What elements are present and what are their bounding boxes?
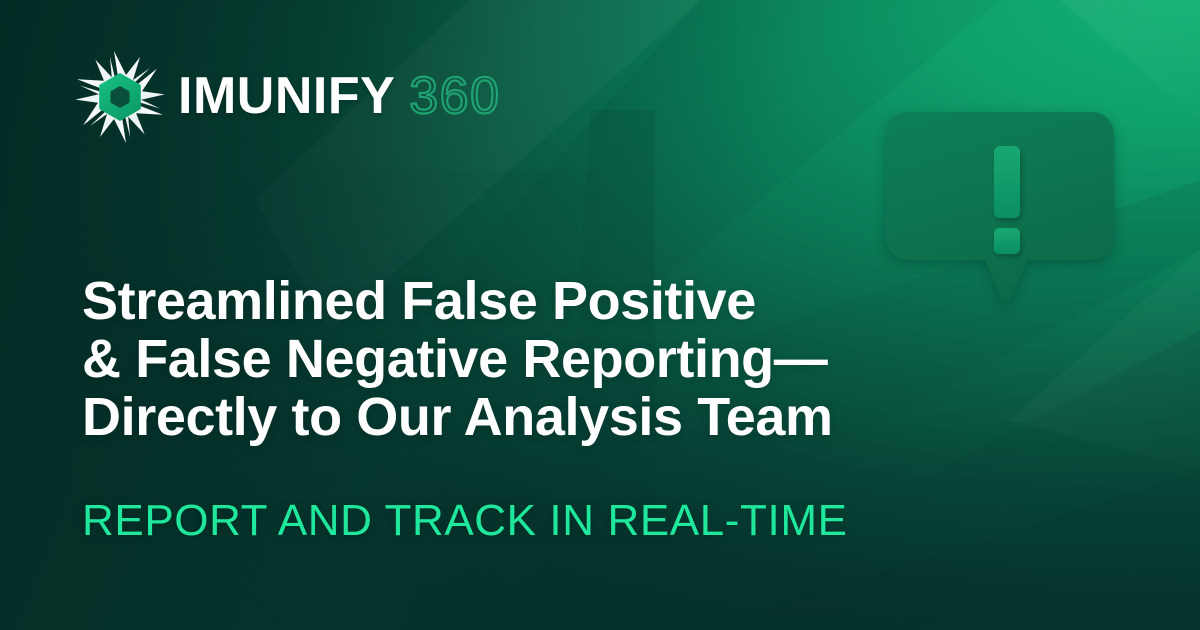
- imunify-starburst-shield-icon: [68, 45, 172, 149]
- headline-line-1: Streamlined False Positive: [82, 272, 982, 330]
- headline-line-2: & False Negative Reporting—: [82, 330, 982, 388]
- brand-wordmark: IMUNIFY 360: [178, 70, 501, 122]
- subheadline: REPORT AND TRACK IN REAL-TIME: [82, 496, 848, 546]
- brand-logo[interactable]: IMUNIFY 360: [72, 56, 501, 136]
- wordmark-360: 360: [409, 70, 500, 122]
- headline-line-3: Directly to Our Analysis Team: [82, 388, 982, 446]
- wordmark-imunify: IMUNIFY: [178, 70, 395, 122]
- page-title: Streamlined False Positive & False Negat…: [82, 272, 982, 446]
- speech-bubble-exclamation-icon: [886, 112, 1114, 278]
- promo-banner: IMUNIFY 360 Streamlined False Positive &…: [0, 0, 1200, 630]
